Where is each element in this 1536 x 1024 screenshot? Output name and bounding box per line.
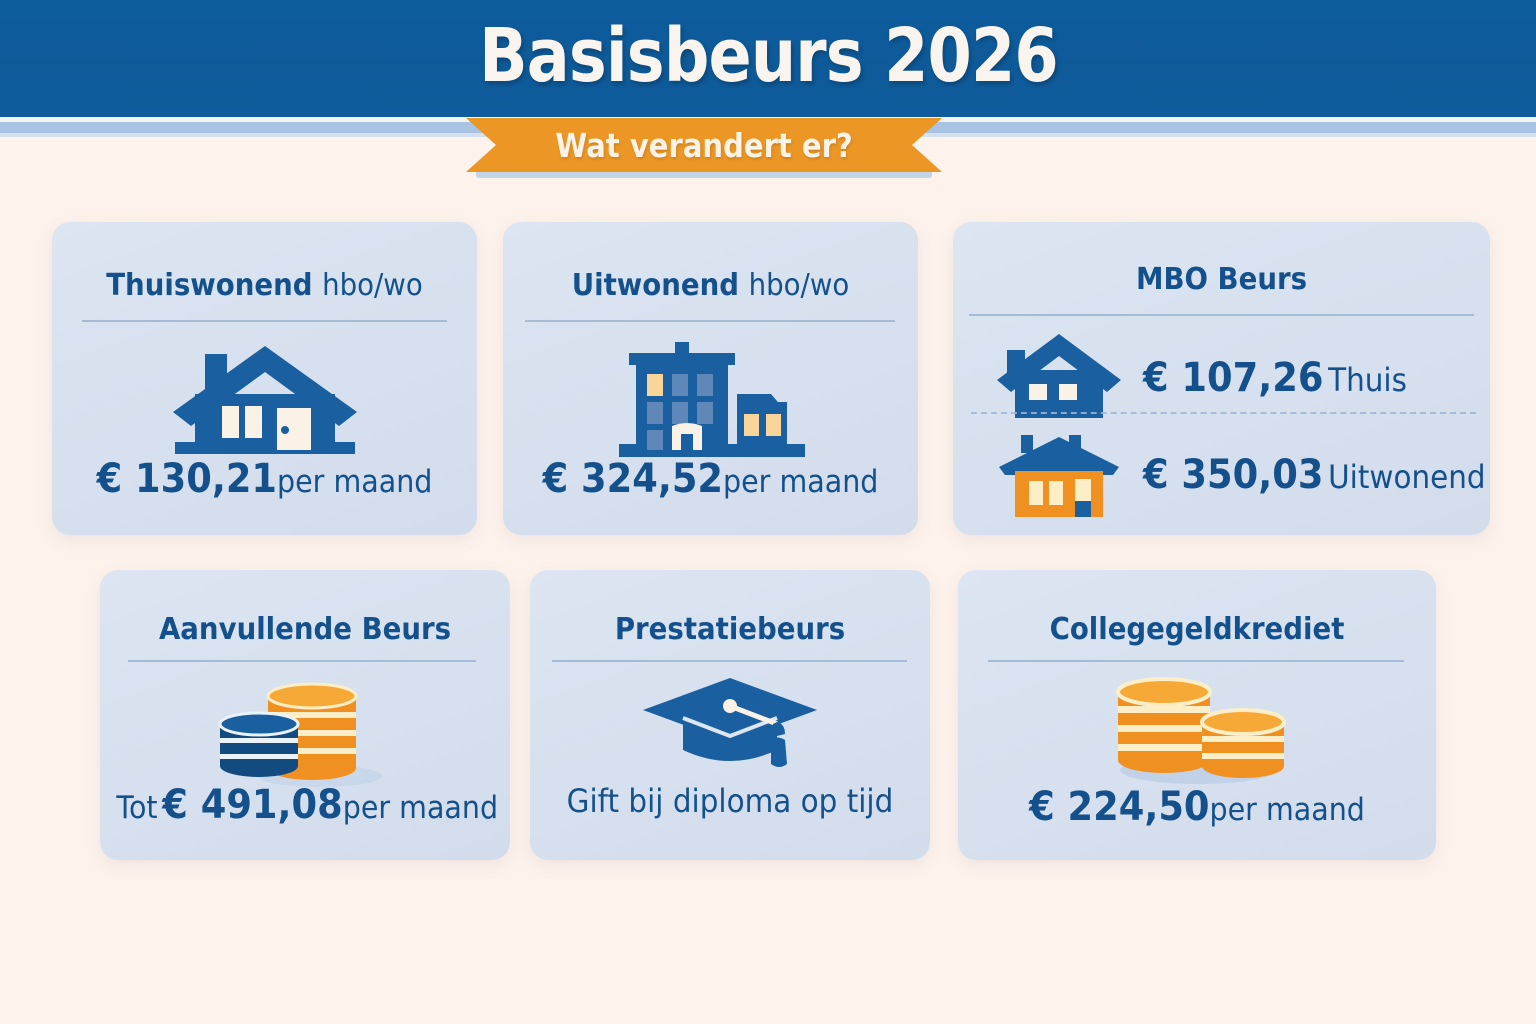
- card-thuiswonend-hbo-wo[interactable]: Thuiswonend hbo/wo € 130,21per maand: [52, 222, 477, 535]
- apartment-building-icon: [503, 340, 918, 465]
- card-aanvullende-beurs[interactable]: Aanvullende Beurs: [100, 570, 510, 860]
- card-divider: [552, 660, 907, 662]
- card-mbo-beurs[interactable]: MBO Beurs € 107,26 Thuis: [953, 222, 1490, 535]
- card-divider: [128, 660, 476, 662]
- mbo-value-uitwonend: € 350,03 Uitwonend: [1143, 452, 1486, 498]
- ribbon-label: Wat verandert er?: [555, 126, 852, 165]
- card-divider: [988, 660, 1404, 662]
- card-title: Uitwonend hbo/wo: [520, 268, 902, 303]
- coin-stacks-orange-icon: [958, 674, 1436, 789]
- card-value: € 224,50per maand: [977, 784, 1417, 830]
- card-prestatiebeurs[interactable]: Prestatiebeurs Gift bij diploma op tijd: [530, 570, 930, 860]
- card-uitwonend-hbo-wo[interactable]: Uitwonend hbo/wo: [503, 222, 918, 535]
- card-title: Collegegeldkrediet: [977, 612, 1417, 647]
- card-title: Thuiswonend hbo/wo: [69, 268, 460, 303]
- header-band: Basisbeurs 2026: [0, 0, 1536, 117]
- card-title: Prestatiebeurs: [546, 612, 914, 647]
- card-caption: Gift bij diploma op tijd: [546, 782, 914, 820]
- graduation-cap-icon: [530, 674, 930, 784]
- coin-stacks-blue-orange-icon: [100, 678, 510, 788]
- mbo-value-thuis: € 107,26 Thuis: [1143, 355, 1407, 401]
- card-title: Aanvullende Beurs: [116, 612, 493, 647]
- card-value: Tot € 491,08per maand: [116, 782, 493, 828]
- card-value: € 130,21per maand: [69, 456, 460, 502]
- card-title: MBO Beurs: [974, 262, 1468, 297]
- house-icon: [52, 342, 477, 462]
- card-divider: [969, 314, 1474, 316]
- house-orange-icon: [993, 427, 1125, 523]
- subtitle-ribbon: Wat verandert er?: [466, 118, 942, 172]
- card-collegegeldkrediet[interactable]: Collegegeldkrediet: [958, 570, 1436, 860]
- card-value: € 324,52per maand: [520, 456, 902, 502]
- mbo-row-uitwonend: € 350,03 Uitwonend: [993, 427, 1490, 523]
- card-divider: [525, 320, 895, 322]
- mbo-row-divider: [971, 412, 1476, 414]
- card-divider: [82, 320, 447, 322]
- page-title: Basisbeurs 2026: [479, 19, 1058, 99]
